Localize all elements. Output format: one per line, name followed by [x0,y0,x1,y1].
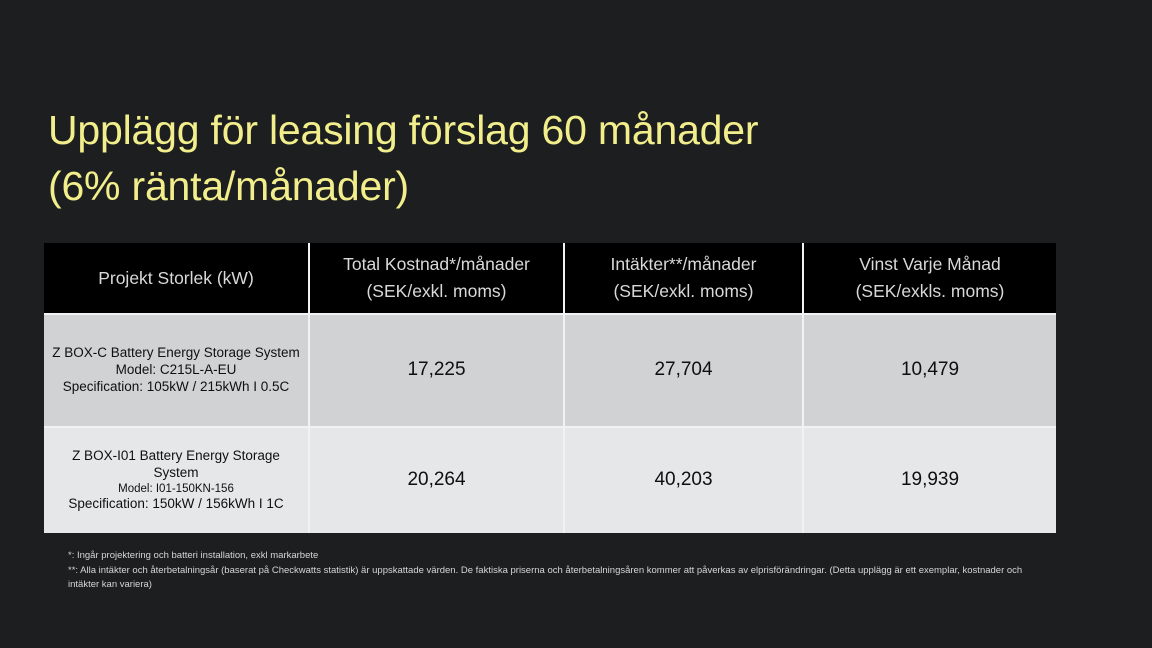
column-header-line1: Projekt Storlek (kW) [50,265,302,292]
product-name: Z BOX-C Battery Energy Storage System [48,345,304,362]
column-header-line2: (SEK/exkls. moms) [810,278,1050,305]
product-name: Z BOX-I01 Battery Energy Storage System [48,448,304,482]
column-header-line1: Intäkter**/månader [571,251,796,278]
product-specification: Specification: 150kW / 156kWh I 1C [48,496,304,513]
table-header-row: Projekt Storlek (kW) Total Kostnad*/måna… [44,243,1056,314]
column-header-total-kostnad: Total Kostnad*/månader (SEK/exkl. moms) [309,243,564,314]
cell-total-cost: 17,225 [309,314,564,427]
cell-profit: 10,479 [803,314,1056,427]
presentation-slide: Upplägg för leasing förslag 60 månader (… [0,0,1152,648]
table-row: Z BOX-I01 Battery Energy Storage System … [44,427,1056,533]
cell-revenue: 40,203 [564,427,803,533]
leasing-table-container: Projekt Storlek (kW) Total Kostnad*/måna… [44,243,1056,533]
cell-product-spec: Z BOX-C Battery Energy Storage System Mo… [44,314,309,427]
column-header-line2: (SEK/exkl. moms) [571,278,796,305]
leasing-table: Projekt Storlek (kW) Total Kostnad*/måna… [44,243,1056,533]
column-header-vinst-varje-manad: Vinst Varje Månad (SEK/exkls. moms) [803,243,1056,314]
table-body: Z BOX-C Battery Energy Storage System Mo… [44,314,1056,533]
product-model: Model: I01-150KN-156 [48,482,304,496]
column-header-line1: Vinst Varje Månad [810,251,1050,278]
table-header: Projekt Storlek (kW) Total Kostnad*/måna… [44,243,1056,314]
footnote-double-asterisk: **: Alla intäkter och återbetalningsår (… [68,564,1052,592]
cell-product-spec: Z BOX-I01 Battery Energy Storage System … [44,427,309,533]
column-header-intakter: Intäkter**/månader (SEK/exkl. moms) [564,243,803,314]
cell-revenue: 27,704 [564,314,803,427]
column-header-line1: Total Kostnad*/månader [316,251,557,278]
footnotes: *: Ingår projektering och batteri instal… [68,549,1052,592]
footnote-single-asterisk: *: Ingår projektering och batteri instal… [68,549,1052,563]
table-row: Z BOX-C Battery Energy Storage System Mo… [44,314,1056,427]
page-title: Upplägg för leasing förslag 60 månader (… [48,103,978,215]
product-specification: Specification: 105kW / 215kWh I 0.5C [48,379,304,396]
cell-profit: 19,939 [803,427,1056,533]
product-model: Model: C215L-A-EU [48,362,304,379]
column-header-projekt-storlek: Projekt Storlek (kW) [44,243,309,314]
cell-total-cost: 20,264 [309,427,564,533]
column-header-line2: (SEK/exkl. moms) [316,278,557,305]
